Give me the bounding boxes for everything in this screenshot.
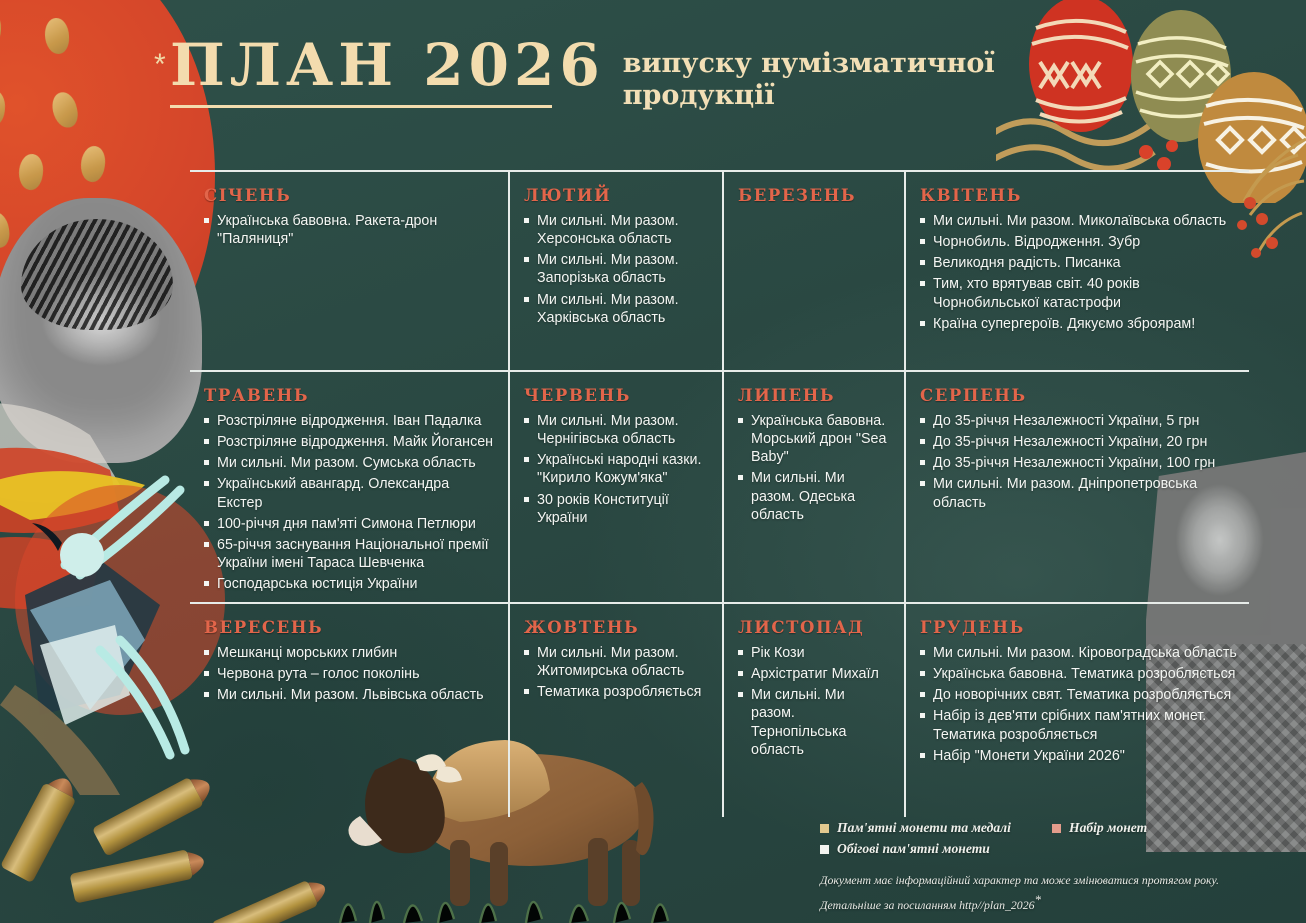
month-block-вересень: ВЕРЕСЕНЬМешканці морських глибинЧервона … [190, 602, 508, 817]
title-underline [170, 105, 552, 108]
month-item: До 35-річчя Незалежності України, 20 грн [920, 433, 1237, 451]
legend-column-secondary: Набір монет [1052, 820, 1252, 862]
gold-dab [50, 90, 81, 130]
legend-item: Набір монет [1052, 820, 1252, 836]
month-block-листопад: ЛИСТОПАДРік КозиАрхістратиг МихаїлМи сил… [722, 602, 904, 817]
month-block-червень: ЧЕРВЕНЬМи сильні. Ми разом. Чернігівська… [508, 370, 722, 602]
month-item-list: Розстріляне відродження. Іван ПадалкаРоз… [204, 412, 496, 593]
month-item-list: Ми сильні. Ми разом. Миколаївська област… [920, 212, 1237, 333]
gold-dab [0, 89, 7, 127]
month-item: Українські народні казки. "Кирило Кожум'… [524, 451, 710, 487]
gold-dab [17, 153, 46, 192]
month-item: Мешканці морських глибин [204, 644, 496, 662]
egg-cream [1131, 10, 1231, 142]
month-item: Набір із дев'яти срібних пам'ятних монет… [920, 707, 1237, 743]
month-item: Українська бавовна. Ракета-дрон "Паляниц… [204, 212, 496, 248]
month-item: Ми сильні. Ми разом. Чернігівська област… [524, 412, 710, 448]
month-block-липень: ЛИПЕНЬУкраїнська бавовна. Морський дрон … [722, 370, 904, 602]
legend: Пам'ятні монети та медаліОбігові пам'ятн… [820, 820, 1260, 914]
month-item: До новорічних свят. Тематика розробляєть… [920, 686, 1237, 704]
month-item-list: Ми сильні. Ми разом. Херсонська областьМ… [524, 212, 710, 327]
month-item: Ми сильні. Ми разом. Херсонська область [524, 212, 710, 248]
month-item: До 35-річчя Незалежності України, 100 гр… [920, 454, 1237, 472]
month-item: Українська бавовна. Тематика розробляєть… [920, 665, 1237, 683]
page-subtitle: випуску нумізматичної продукції [623, 38, 1043, 112]
month-item: Ми сильні. Ми разом. Миколаївська област… [920, 212, 1237, 230]
month-item-list: До 35-річчя Незалежності України, 5 грнД… [920, 412, 1237, 512]
month-item: 30 років Конституції України [524, 491, 710, 527]
month-item: Ми сильні. Ми разом. Львівська область [204, 686, 496, 704]
month-item: Розстріляне відродження. Іван Падалка [204, 412, 496, 430]
infographic-poster: * ПЛАН 2026 випуску нумізматичної продук… [0, 0, 1306, 923]
gold-dab [44, 18, 69, 55]
egg-red [1029, 0, 1133, 132]
month-item-list: Українська бавовна. Морський дрон "Sea B… [738, 412, 892, 524]
month-title: ЛЮТИЙ [524, 186, 710, 205]
month-title: ЛИСТОПАД [738, 618, 892, 637]
legend-item: Обігові пам'ятні монети [820, 841, 1052, 857]
legend-label: Набір монет [1069, 820, 1147, 836]
month-item: Ми сильні. Ми разом. Харківська область [524, 291, 710, 327]
month-item: Набір "Монети України 2026" [920, 747, 1237, 765]
month-item: Рік Кози [738, 644, 892, 662]
month-item-list: Рік КозиАрхістратиг МихаїлМи сильні. Ми … [738, 644, 892, 759]
legend-swatch-icon [1052, 824, 1061, 833]
legend-label: Обігові пам'ятні монети [837, 841, 990, 857]
month-item: Розстріляне відродження. Майк Йогансен [204, 433, 496, 451]
month-item: 100-річчя дня пам'яті Симона Петлюри [204, 515, 496, 533]
month-row: СІЧЕНЬУкраїнська бавовна. Ракета-дрон "П… [190, 170, 1265, 370]
header-asterisk: * [154, 48, 166, 82]
month-item: 65-річчя заснування Національної премії … [204, 536, 496, 572]
legend-item: Пам'ятні монети та медалі [820, 820, 1052, 836]
month-block-лютий: ЛЮТИЙМи сильні. Ми разом. Херсонська обл… [508, 170, 722, 370]
month-item: Ми сильні. Ми разом. Тернопільська облас… [738, 686, 892, 759]
month-item-list: Ми сильні. Ми разом. Житомирська область… [524, 644, 710, 701]
month-block-квітень: КВІТЕНЬМи сильні. Ми разом. Миколаївська… [904, 170, 1249, 370]
month-row: ТРАВЕНЬРозстріляне відродження. Іван Пад… [190, 370, 1265, 602]
legend-column-primary: Пам'ятні монети та медаліОбігові пам'ятн… [820, 820, 1052, 862]
disclaimer-line-1: Документ має інформаційний характер та м… [820, 872, 1260, 890]
month-title: СІЧЕНЬ [204, 186, 496, 205]
month-item: До 35-річчя Незалежності України, 5 грн [920, 412, 1237, 430]
month-item: Тематика розробляється [524, 683, 710, 701]
month-title: БЕРЕЗЕНЬ [738, 186, 892, 205]
month-item: Червона рута – голос поколінь [204, 665, 496, 683]
month-title: СЕРПЕНЬ [920, 386, 1237, 405]
gold-dab [78, 144, 108, 184]
month-title: КВІТЕНЬ [920, 186, 1237, 205]
month-block-травень: ТРАВЕНЬРозстріляне відродження. Іван Пад… [190, 370, 508, 602]
legend-swatch-icon [820, 845, 829, 854]
month-title: ТРАВЕНЬ [204, 386, 496, 405]
gold-dab [0, 10, 2, 47]
month-item: Архістратиг Михаїл [738, 665, 892, 683]
month-item: Великодня радість. Писанка [920, 254, 1237, 272]
gold-dab [56, 207, 82, 245]
month-item: Українська бавовна. Морський дрон "Sea B… [738, 412, 892, 466]
month-block-серпень: СЕРПЕНЬДо 35-річчя Незалежності України,… [904, 370, 1249, 602]
month-item: Ми сильні. Ми разом. Запорізька область [524, 251, 710, 287]
month-item-list: Мешканці морських глибинЧервона рута – г… [204, 644, 496, 704]
month-item: Ми сильні. Ми разом. Сумська область [204, 454, 496, 472]
month-item-list: Українська бавовна. Ракета-дрон "Паляниц… [204, 212, 496, 248]
month-title: ВЕРЕСЕНЬ [204, 618, 496, 637]
disclaimer-line-2: Детальніше за посиланням http//plan_2026 [820, 898, 1035, 912]
month-item: Країна супергероїв. Дякуємо зброярам! [920, 315, 1237, 333]
month-block-березень: БЕРЕЗЕНЬ [722, 170, 904, 370]
month-title: ГРУДЕНЬ [920, 618, 1237, 637]
gold-dab [0, 211, 11, 250]
month-item: Український авангард. Олександра Екстер [204, 475, 496, 511]
month-grid: СІЧЕНЬУкраїнська бавовна. Ракета-дрон "П… [190, 170, 1265, 817]
legend-label: Пам'ятні монети та медалі [837, 820, 1011, 836]
portrait-exter [0, 198, 202, 463]
month-item-list: Ми сильні. Ми разом. Кіровоградська обла… [920, 644, 1237, 765]
disclaimer: Документ має інформаційний характер та м… [820, 872, 1260, 914]
month-item: Тим, хто врятував світ. 40 років Чорноби… [920, 275, 1237, 311]
month-item: Ми сильні. Ми разом. Одеська область [738, 469, 892, 523]
month-title: ЧЕРВЕНЬ [524, 386, 710, 405]
month-item: Ми сильні. Ми разом. Дніпропетровська об… [920, 475, 1237, 511]
month-block-жовтень: ЖОВТЕНЬМи сильні. Ми разом. Житомирська … [508, 602, 722, 817]
month-item: Ми сильні. Ми разом. Кіровоградська обла… [920, 644, 1237, 662]
month-item: Господарська юстиція України [204, 575, 496, 593]
page-title: ПЛАН 2026 [170, 38, 605, 101]
month-block-грудень: ГРУДЕНЬМи сильні. Ми разом. Кіровоградсь… [904, 602, 1249, 817]
month-title: ЖОВТЕНЬ [524, 618, 710, 637]
disclaimer-asterisk: * [1035, 892, 1042, 907]
poster-header: * ПЛАН 2026 випуску нумізматичної продук… [170, 38, 1043, 112]
month-item: Ми сильні. Ми разом. Житомирська область [524, 644, 710, 680]
month-row: ВЕРЕСЕНЬМешканці морських глибинЧервона … [190, 602, 1265, 817]
month-title: ЛИПЕНЬ [738, 386, 892, 405]
month-item-list: Ми сильні. Ми разом. Чернігівська област… [524, 412, 710, 527]
month-item: Чорнобиль. Відродження. Зубр [920, 233, 1237, 251]
month-block-січень: СІЧЕНЬУкраїнська бавовна. Ракета-дрон "П… [190, 170, 508, 370]
legend-swatch-icon [820, 824, 829, 833]
